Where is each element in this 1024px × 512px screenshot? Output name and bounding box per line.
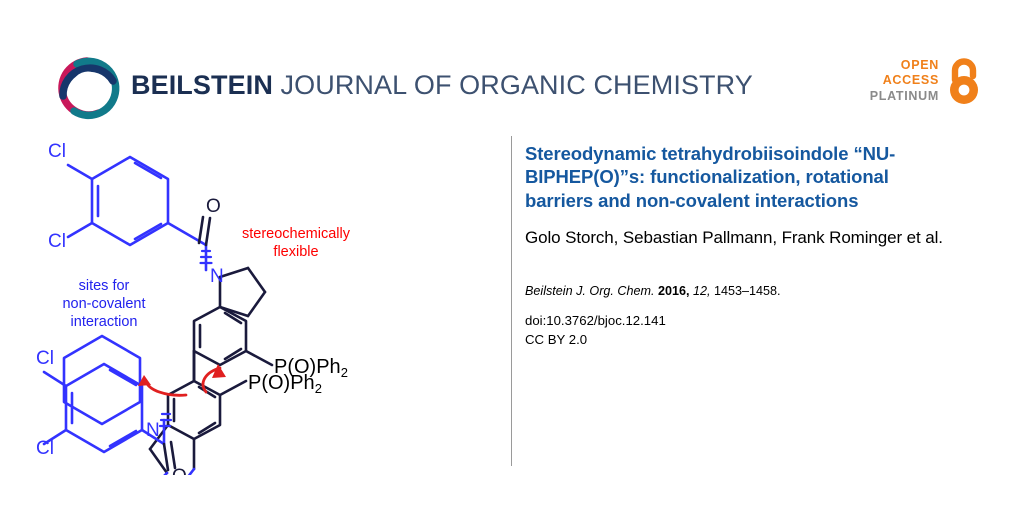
wordmark-journal-of-organic-chemistry: JOURNAL OF ORGANIC CHEMISTRY: [273, 70, 753, 100]
oa-label-open: OPEN: [870, 58, 939, 73]
atom-label-cl-top-lower: Cl: [48, 231, 66, 252]
atom-label-n-bottom: N: [146, 420, 160, 441]
annotation-stereochemically-flexible-line2: flexible: [273, 244, 318, 260]
article-doi-license: doi:10.3762/bjoc.12.141 CC BY 2.0: [525, 312, 957, 349]
doi-text[interactable]: doi:10.3762/bjoc.12.141: [525, 313, 666, 328]
article-citation: Beilstein J. Org. Chem. 2016, 12, 1453–1…: [525, 284, 957, 298]
journal-wordmark: BEILSTEIN JOURNAL OF ORGANIC CHEMISTRY: [131, 70, 753, 101]
atom-label-cl-bottom-lower: Cl: [36, 438, 54, 459]
atom-label-o-top: O: [206, 196, 221, 217]
atom-label-cl-top-upper: Cl: [48, 141, 66, 162]
annotation-stereochemically-flexible-line1: stereochemically: [242, 226, 351, 242]
atom-label-n-top: N: [210, 266, 224, 287]
citation-pages: 1453–1458.: [714, 284, 781, 298]
article-title[interactable]: Stereodynamic tetrahydrobiisoindole “NU-…: [525, 142, 957, 212]
citation-volume: 12,: [693, 284, 711, 298]
atom-label-o-bottom: O: [172, 466, 187, 475]
masthead: BEILSTEIN JOURNAL OF ORGANIC CHEMISTRY O…: [0, 0, 1024, 132]
annotation-noncovalent-line3: interaction: [71, 314, 138, 330]
column-divider: [511, 136, 512, 466]
atom-label-cl-bottom-upper: Cl: [36, 348, 54, 369]
nu-biphep-o-chemical-structure: Cl Cl O N Cl Cl O N P(O)Ph2 P(O)Ph2 ster…: [34, 130, 494, 475]
beilstein-triple-arc-logo-icon: [52, 52, 124, 124]
oa-label-platinum: PLATINUM: [870, 89, 939, 104]
open-padlock-icon: [946, 56, 982, 106]
oa-label-access: ACCESS: [870, 73, 939, 88]
article-authors: Golo Storch, Sebastian Pallmann, Frank R…: [525, 226, 957, 250]
citation-year: 2016,: [658, 284, 690, 298]
open-access-labels: OPEN ACCESS PLATINUM: [870, 58, 939, 104]
annotation-noncovalent-line1: sites for: [79, 278, 130, 294]
group-label-phosphine-lower: P(O)Ph2: [248, 372, 322, 396]
article-metadata: Stereodynamic tetrahydrobiisoindole “NU-…: [525, 142, 957, 350]
annotation-noncovalent-line2: non-covalent: [62, 296, 145, 312]
license-text[interactable]: CC BY 2.0: [525, 332, 587, 347]
open-access-badge: OPEN ACCESS PLATINUM: [870, 56, 982, 106]
citation-journal: Beilstein J. Org. Chem.: [525, 284, 654, 298]
wordmark-beilstein: BEILSTEIN: [131, 70, 273, 100]
